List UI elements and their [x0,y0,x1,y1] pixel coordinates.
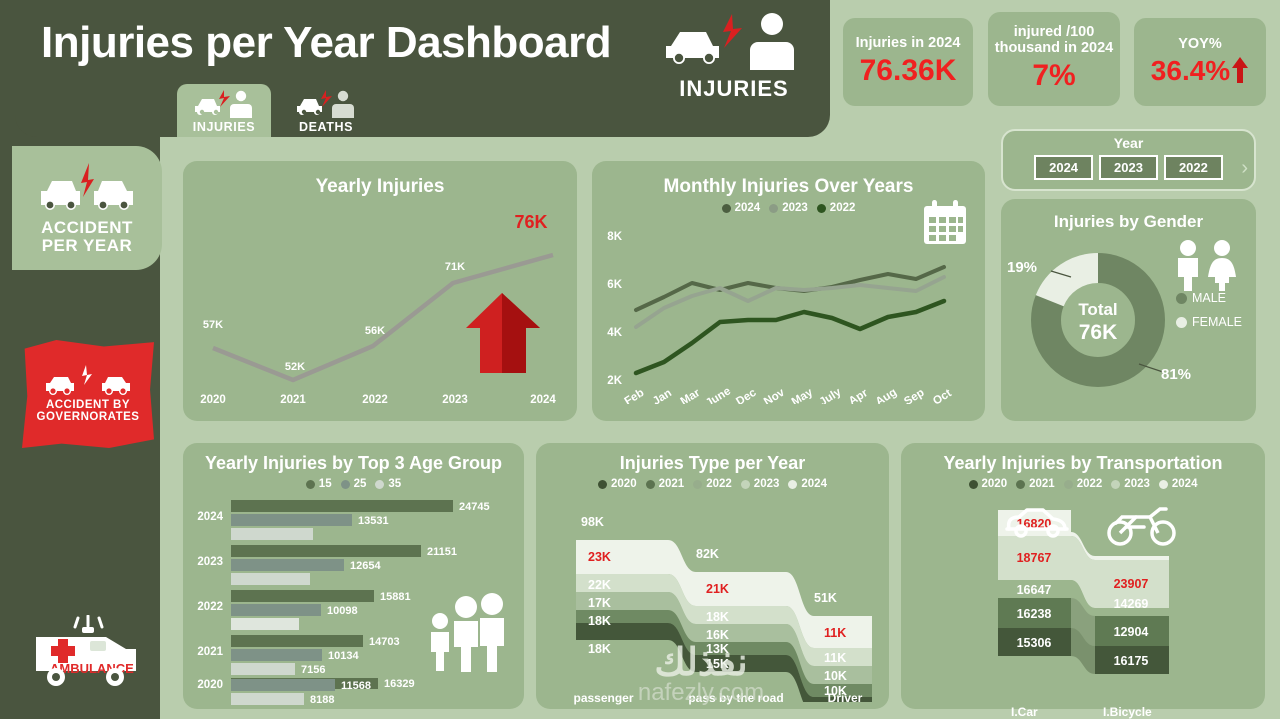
legend-swatch [741,480,750,489]
donut-value-label-female: 19% [1007,259,1037,276]
column-total: 51K [814,591,837,605]
flow-label: 18K [588,642,611,656]
legend-label: 2022 [1077,478,1103,490]
legend-item-2024[interactable]: 2024 [722,202,761,214]
chart-legend: 15 25 35 [183,478,524,490]
legend-swatch [693,480,702,489]
legend-item-2020[interactable]: 2020 [969,478,1008,490]
panel-injuries-by-gender: Injuries by Gender Total 76K 19% 81% MAL… [1001,199,1256,421]
flow-label: 18K [588,614,611,628]
tab-label: DEATHS [299,120,353,134]
x-tick: 2021 [280,394,306,406]
up-arrow-icon [1231,56,1249,84]
bar-25 [231,679,335,691]
bar-35 [231,618,299,630]
legend-item-male[interactable]: MALE [1176,291,1242,305]
x-tick: 2023 [442,394,468,406]
slicer-title: Year [1003,135,1254,151]
kpi-value: 36.4% [1151,55,1230,87]
series-line-2023 [636,277,944,327]
legend-item-2024[interactable]: 2024 [1159,478,1198,490]
x-tick: Oct [931,387,954,404]
kpi-injured-per-100k[interactable]: injured /100 thousand in 2024 7% [988,12,1120,106]
legend-label: 25 [354,478,367,490]
x-tick: Aug [874,386,899,404]
chart-title: Injuries Type per Year [536,443,889,474]
transportation-sankey-chart: 16820 18767 23907 16647 14269 16238 1290… [901,490,1265,675]
legend-item-female[interactable]: FEMALE [1176,315,1242,329]
year-chip-2024[interactable]: 2024 [1034,155,1093,180]
bar-label: 10134 [328,650,359,662]
legend-label: 2022 [706,478,732,490]
bar-label: 12654 [350,560,381,572]
legend-item-15[interactable]: 15 [306,478,332,490]
legend-item-2022[interactable]: 2022 [817,202,856,214]
legend-item-2022[interactable]: 2022 [1064,478,1103,490]
flow-label: 12904 [1114,625,1149,639]
two-cars-crash-icon [37,161,137,217]
x-tick: Dec [734,386,759,404]
legend-item-2023[interactable]: 2023 [769,202,808,214]
kpi-value: 76.36K [860,54,957,88]
legend-swatch [722,204,731,213]
injuries-type-sankey-chart: 98K 82K 51K 23K 21K 11K 22K 18K 11K 17K … [536,490,889,702]
bar-25 [231,649,322,661]
yearly-callout: 76K [514,212,547,232]
x-tick: Feb [623,387,647,404]
yearly-injuries-line-chart: 76K 57K 52K 56K 71K 2020 2021 2022 2023 … [183,198,577,413]
legend-swatch [306,480,315,489]
x-tick: Sep [902,387,926,404]
y-tick: 2024 [197,511,223,523]
tab-deaths[interactable]: DEATHS [279,84,373,137]
bar-label: 10098 [327,605,358,617]
panel-transportation: Yearly Injuries by Transportation 2020 2… [901,443,1265,709]
legend-item-2022[interactable]: 2022 [693,478,732,490]
x-tick: July [817,386,843,404]
sidebar-item-ambulance[interactable]: AMBULANCE [20,615,156,691]
flow-label: 14269 [1114,597,1149,611]
legend-label: 2024 [801,478,827,490]
legend-label: 2024 [1172,478,1198,490]
sidebar-item-accident-per-year[interactable]: ACCIDENT PER YEAR [12,146,162,270]
legend-item-2020[interactable]: 2020 [598,478,637,490]
car-crash-person-icon [660,12,808,74]
panel-monthly-injuries: Monthly Injuries Over Years 2024 2023 20… [592,161,985,421]
legend-swatch [817,204,826,213]
flow-label: 21K [706,582,729,596]
dashboard-root: ACCIDENT PER YEAR ACCIDENT BY GOVERNORAT… [0,0,1280,719]
y-tick: 2K [607,375,622,387]
y-tick: 2021 [197,646,223,658]
legend-swatch [1159,480,1168,489]
y-tick: 2023 [197,556,223,568]
bar-label: 11568 [341,680,371,692]
flow-label: 18767 [1017,551,1052,565]
point-label: 57K [203,319,223,331]
y-tick: 6K [607,279,622,291]
chart-title: Injuries by Gender [1001,199,1256,232]
bar-15 [231,635,363,647]
bar-25 [231,604,321,616]
bar-15 [231,590,374,602]
header-brand: INJURIES [660,12,808,102]
kpi-label: injured /100 thousand in 2024 [988,25,1120,57]
panel-injuries-type: Injuries Type per Year 2020 2021 2022 20… [536,443,889,709]
up-arrow-icon [466,293,540,373]
legend-swatch [1176,293,1187,304]
point-label: 71K [445,261,465,273]
legend-item-2021[interactable]: 2021 [646,478,685,490]
flow-label: 16K [706,628,729,642]
legend-label: 2020 [611,478,637,490]
legend-swatch [1064,480,1073,489]
legend-item-2024[interactable]: 2024 [788,478,827,490]
bar-35 [231,528,313,540]
donut-value-label-male: 81% [1161,366,1191,383]
x-tick: Nov [762,386,787,404]
x-axis-labels: Feb Jan Mar June Dec Nov May July Apr Au… [623,385,954,404]
chart-title: Yearly Injuries by Transportation [901,443,1265,474]
year-chip-2023[interactable]: 2023 [1099,155,1158,180]
tab-label: INJURIES [193,120,255,134]
flow-label: 23K [588,550,611,564]
flow-label: 10K [824,669,847,683]
chart-legend: 2020 2021 2022 2023 2024 [536,478,889,490]
bar-35 [231,693,304,705]
legend-label: 2022 [830,202,856,214]
ambulance-icon: AMBULANCE [20,615,156,691]
bar-15 [231,500,453,512]
legend-item-35[interactable]: 35 [375,478,401,490]
x-tick: I.Car [1011,705,1038,719]
sidebar-item-accident-by-governorates[interactable]: ACCIDENT BY GOVERNORATES [22,340,154,448]
year-chip-2022[interactable]: 2022 [1164,155,1223,180]
legend-label: 2023 [1124,478,1150,490]
legend-swatch [1176,317,1187,328]
flow-label: 16647 [1017,583,1052,597]
car-icon [1001,503,1073,543]
legend-swatch [598,480,607,489]
flow-label: 11K [824,651,846,665]
x-tick: 2020 [200,394,226,406]
legend-swatch [969,480,978,489]
legend-item-2021[interactable]: 2021 [1016,478,1055,490]
flow-label: 16238 [1017,607,1052,621]
x-tick: Jan [651,387,674,404]
legend-label: 2023 [782,202,808,214]
legend-item-25[interactable]: 25 [341,478,367,490]
header-brand-caption: INJURIES [660,76,808,102]
flow-label: 11K [824,626,846,640]
x-tick: passenger [536,691,671,705]
year-slicer[interactable]: Year 2024 2023 2022 › [1001,129,1256,191]
kpi-yoy[interactable]: YOY% 36.4% [1134,18,1266,106]
flow-label: 22K [588,578,611,592]
chart-legend: 2020 2021 2022 2023 2024 [901,478,1265,490]
bar-label: 24745 [459,501,490,513]
header: Injuries per Year Dashboard INJURIES [15,0,830,137]
y-tick: 4K [607,327,622,339]
bar-25 [231,514,352,526]
legend-swatch [1111,480,1120,489]
kpi-injuries-2024[interactable]: Injuries in 2024 76.36K [843,18,973,106]
donut-center-value: 76K [1079,321,1118,344]
legend-label: 35 [388,478,401,490]
egypt-map-crash-icon [40,365,136,399]
legend-label: 15 [319,478,332,490]
legend-swatch [788,480,797,489]
flow-label: 15306 [1017,636,1052,650]
x-tick: June [704,385,733,404]
point-label: 56K [365,325,385,337]
flow-label: 18K [706,610,729,624]
gender-donut-chart: Total 76K [1023,245,1173,395]
legend-swatch [646,480,655,489]
calendar-icon [919,197,971,249]
legend-label: MALE [1192,291,1226,305]
tab-bar: INJURIES DEATHS [177,84,373,137]
three-people-icon [428,591,506,673]
kpi-label: Injuries in 2024 [856,36,961,52]
x-tick: Mar [679,387,703,404]
sidebar-item-label: ACCIDENT BY GOVERNORATES [37,399,140,423]
x-tick: I.Bicycle [1103,705,1152,719]
motorcycle-icon [1106,499,1178,547]
panel-yearly-injuries: Yearly Injuries 76K 57K 52K 56K 71K 2020… [183,161,577,421]
bar-35 [231,573,310,585]
x-tick: May [790,386,816,404]
y-tick: 2022 [197,601,223,613]
column-total: 82K [696,547,719,561]
y-tick: 8K [607,231,622,243]
legend-item-2023[interactable]: 2023 [741,478,780,490]
flow-label: 16175 [1114,654,1149,668]
column-total: 98K [581,515,604,529]
legend-swatch [375,480,384,489]
bar-label: 21151 [427,546,457,558]
chart-title: Yearly Injuries by Top 3 Age Group [183,443,524,474]
bar-label: 13531 [358,515,389,527]
male-female-icon [1171,239,1241,291]
flow-label: 15K [706,657,729,671]
car-crash-person-icon [193,90,255,120]
flow-label: 17K [588,596,611,610]
legend-swatch [341,480,350,489]
legend-label: 2023 [754,478,780,490]
gender-legend: MALE FEMALE [1176,291,1242,339]
bar-25 [231,559,344,571]
tab-injuries[interactable]: INJURIES [177,84,271,137]
chevron-right-icon[interactable]: › [1241,157,1248,180]
chart-title: Monthly Injuries Over Years [592,161,985,198]
legend-label: 2020 [982,478,1008,490]
x-tick: 2024 [530,394,556,406]
series-line-2022 [636,301,944,373]
legend-label: 2024 [735,202,761,214]
x-tick: Apr [847,387,871,404]
flow-label: 13K [706,642,729,656]
x-tick: Driver [801,691,889,705]
bar-label: 14703 [369,636,400,648]
x-tick: 2022 [362,394,388,406]
kpi-value: 7% [1032,59,1075,93]
point-label: 52K [285,361,305,373]
legend-label: 2021 [659,478,685,490]
sidebar-item-label: ACCIDENT PER YEAR [41,219,133,255]
panel-age-group: Yearly Injuries by Top 3 Age Group 15 25… [183,443,524,709]
page-title: Injuries per Year Dashboard [41,18,611,68]
kpi-label: YOY% [1178,37,1222,53]
legend-swatch [769,204,778,213]
legend-label: FEMALE [1192,315,1242,329]
bar-15 [231,545,421,557]
car-crash-person-icon [295,90,357,120]
age-group-2020-bars: 11568 8188 [183,679,524,709]
x-tick: pass by the road [671,691,801,705]
bar-label: 15881 [380,591,411,603]
flow-label: 23907 [1114,577,1149,591]
legend-item-2023[interactable]: 2023 [1111,478,1150,490]
legend-swatch [1016,480,1025,489]
bar-label: 8188 [310,694,334,706]
donut-center-label: Total [1078,300,1117,319]
legend-label: 2021 [1029,478,1055,490]
chart-title: Yearly Injuries [183,161,577,198]
